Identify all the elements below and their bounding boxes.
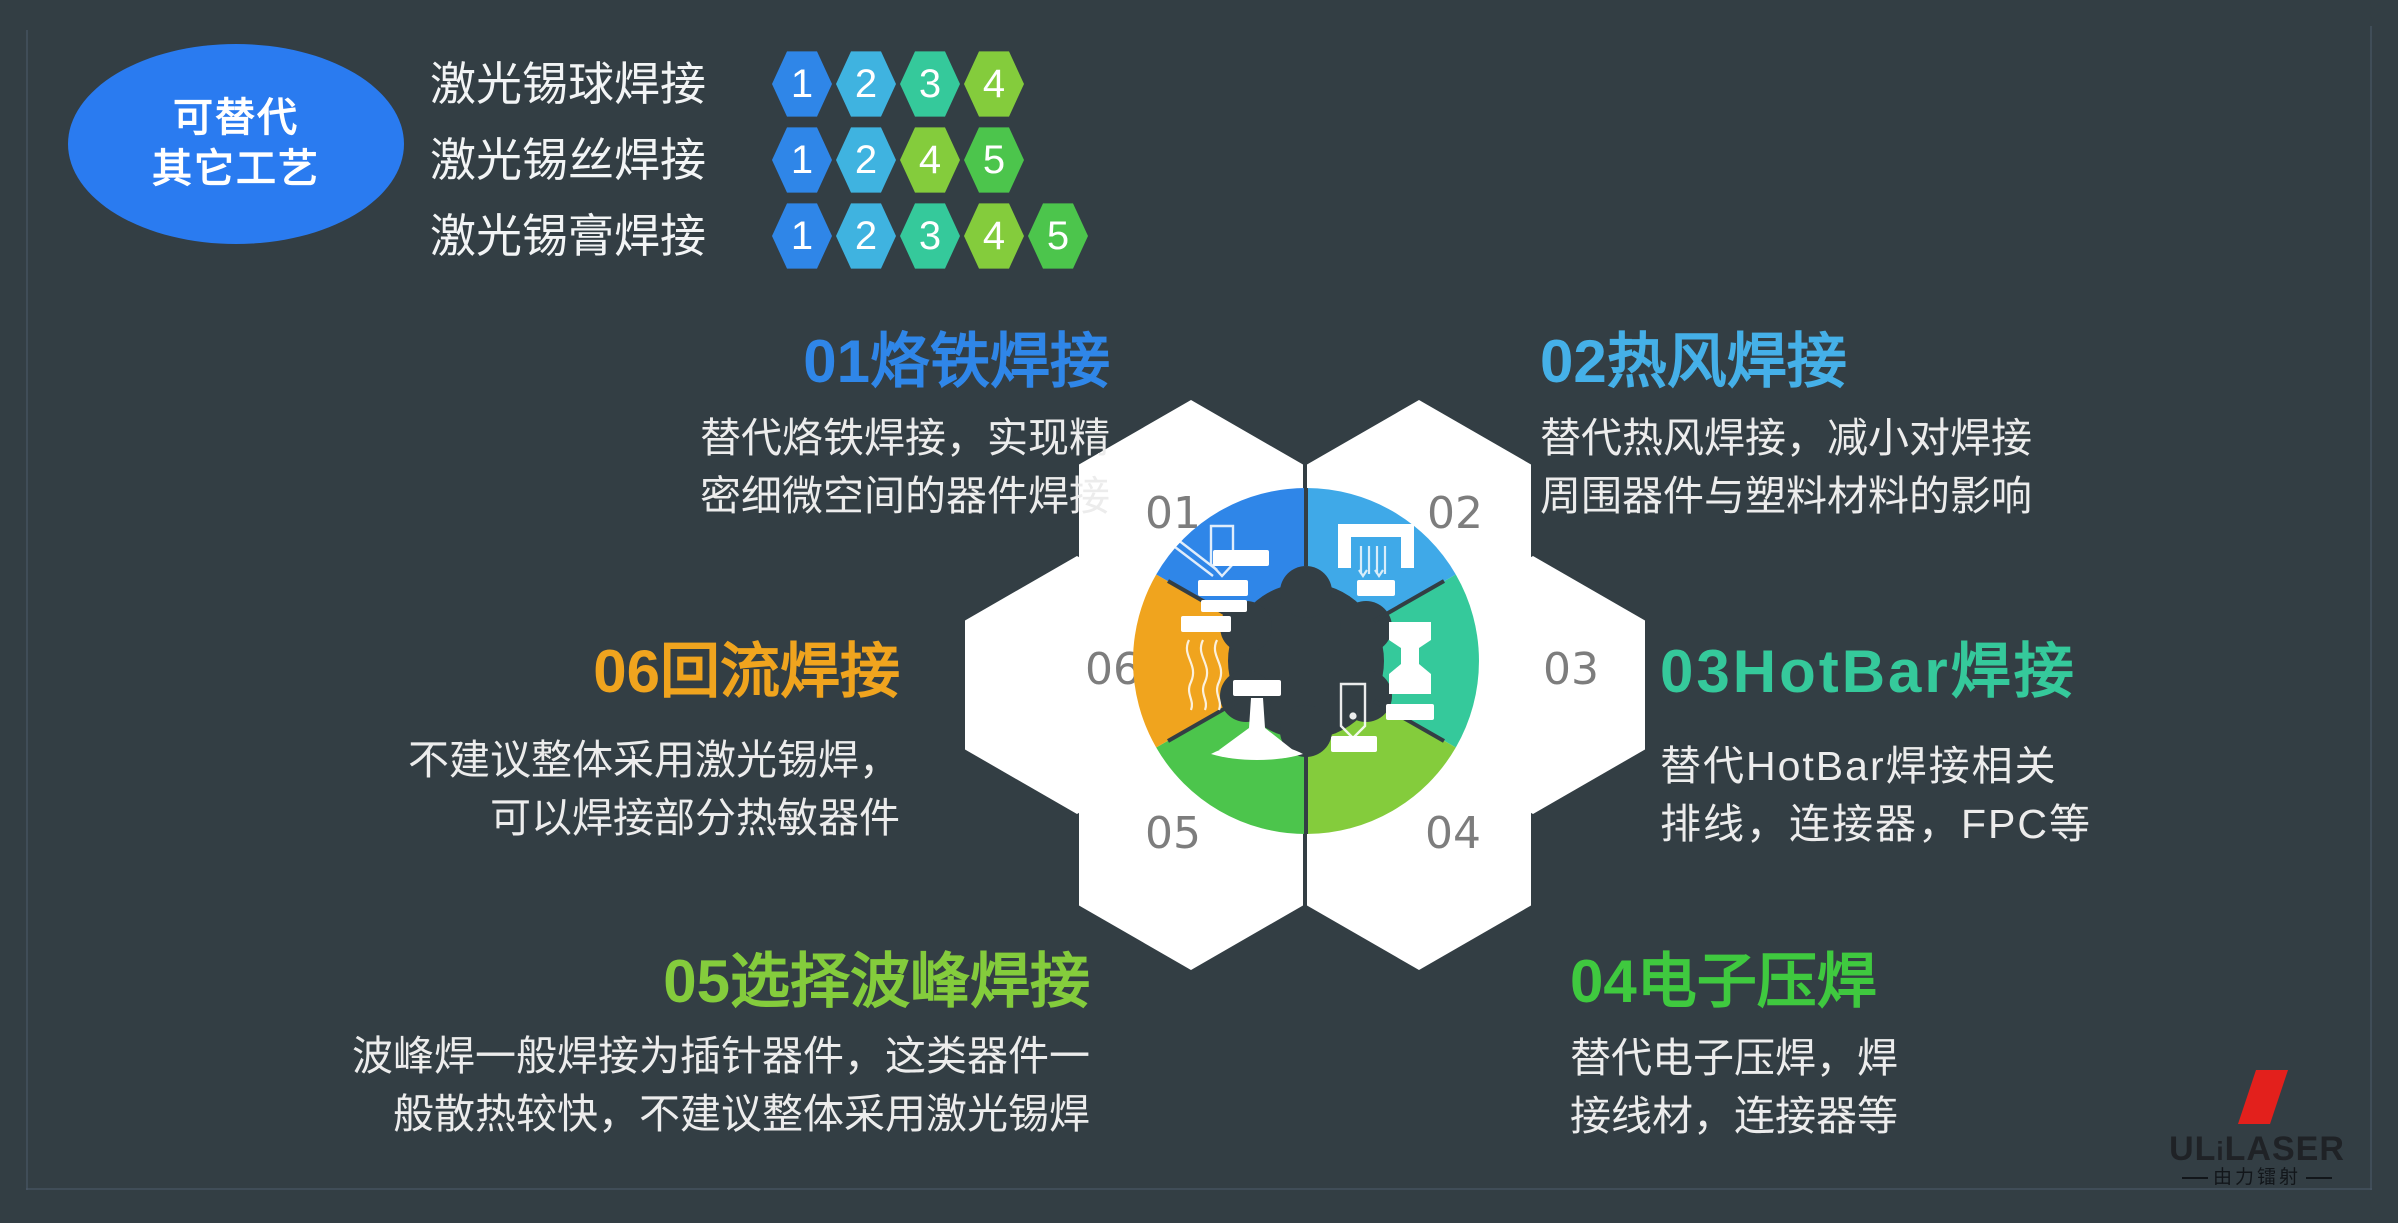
brand-logo: ULiLASER 由力镭射 — [2152, 1072, 2362, 1184]
step-hex: 2 — [836, 202, 896, 270]
step-hex-number: 2 — [855, 216, 877, 256]
step-hex-number: 5 — [983, 140, 1005, 180]
step-hex-number: 5 — [1047, 216, 1069, 256]
section-04-body-line-2: 接线材，连接器等 — [1570, 1087, 2210, 1145]
section-06-heading: 06回流焊接 — [220, 640, 900, 703]
section-03: 03HotBar焊接 替代HotBar焊接相关 排线，连接器，FPC等 — [1660, 640, 2398, 853]
step-hex: 4 — [964, 202, 1024, 270]
process-label: 激光锡膏焊接 — [430, 213, 756, 259]
step-hex: 3 — [900, 50, 960, 118]
step-hex: 1 — [772, 202, 832, 270]
logo-word-b: LASER — [2225, 1130, 2345, 1168]
step-hex: 2 — [836, 126, 896, 194]
hotbar-press-icon — [1386, 622, 1434, 720]
section-01-body-line-1: 替代烙铁焊接，实现精 — [470, 409, 1110, 467]
section-04-heading: 04电子压焊 — [1570, 950, 2210, 1013]
step-hex-group: 1 2 4 5 — [772, 126, 1028, 194]
step-hex: 3 — [900, 202, 960, 270]
section-02-body-line-2: 周围器件与塑料材料的影响 — [1540, 467, 2240, 525]
hex-cell-number: 03 — [1543, 648, 1599, 692]
infographic-canvas: 可替代 其它工艺 激光锡球焊接 1 2 3 4 激光锡丝焊接 1 2 4 5 激… — [0, 0, 2398, 1223]
list-item: 激光锡膏焊接 1 2 3 4 5 — [430, 200, 1092, 272]
step-hex-group: 1 2 3 4 5 — [772, 202, 1092, 270]
logo-word-a: UL — [2169, 1130, 2216, 1168]
step-hex: 4 — [900, 126, 960, 194]
step-hex-number: 2 — [855, 64, 877, 104]
section-05-body-line-2: 般散热较快，不建议整体采用激光锡焊 — [80, 1085, 1090, 1143]
replaceable-badge: 可替代 其它工艺 — [68, 44, 404, 244]
section-04-body: 替代电子压焊，焊 接线材，连接器等 — [1570, 1029, 2210, 1145]
logo-wordmark: ULiLASER — [2152, 1132, 2362, 1166]
step-hex: 5 — [1028, 202, 1088, 270]
section-01: 01烙铁焊接 替代烙铁焊接，实现精 密细微空间的器件焊接 — [470, 330, 1110, 525]
step-hex: 4 — [964, 50, 1024, 118]
section-03-body: 替代HotBar焊接相关 排线，连接器，FPC等 — [1660, 737, 2398, 853]
section-02-body: 替代热风焊接，减小对焊接 周围器件与塑料材料的影响 — [1540, 409, 2240, 525]
logo-subtitle: 由力镭射 — [2152, 1168, 2362, 1187]
step-hex-number: 3 — [919, 64, 941, 104]
step-hex-number: 4 — [983, 216, 1005, 256]
section-01-heading: 01烙铁焊接 — [470, 330, 1110, 393]
list-item: 激光锡球焊接 1 2 3 4 — [430, 48, 1092, 120]
step-hex-number: 4 — [919, 140, 941, 180]
section-05-heading: 05选择波峰焊接 — [80, 950, 1090, 1013]
frame-border-right — [2370, 26, 2372, 1190]
section-04: 04电子压焊 替代电子压焊，焊 接线材，连接器等 — [1570, 950, 2210, 1145]
step-hex-number: 3 — [919, 216, 941, 256]
section-02-heading: 02热风焊接 — [1540, 330, 2240, 393]
step-hex: 2 — [836, 50, 896, 118]
step-hex-number: 1 — [791, 216, 813, 256]
step-hex-number: 1 — [791, 64, 813, 104]
section-02-body-line-1: 替代热风焊接，减小对焊接 — [1540, 409, 2240, 467]
section-01-body: 替代烙铁焊接，实现精 密细微空间的器件焊接 — [470, 409, 1110, 525]
list-item: 激光锡丝焊接 1 2 4 5 — [430, 124, 1092, 196]
reflow-heat-icon — [1181, 616, 1231, 632]
step-hex-number: 4 — [983, 64, 1005, 104]
frame-border-bottom — [26, 1188, 2372, 1190]
step-hex: 1 — [772, 50, 832, 118]
section-04-body-line-1: 替代电子压焊，焊 — [1570, 1029, 2210, 1087]
section-06: 06回流焊接 不建议整体采用激光锡焊， 可以焊接部分热敏器件 — [220, 640, 900, 847]
hexagon-wheel: 01 02 03 04 05 06 — [1075, 400, 1535, 970]
section-05-body-line-1: 波峰焊一般焊接为插针器件，这类器件一 — [80, 1027, 1090, 1085]
process-donut — [1133, 488, 1479, 834]
logo-mark-icon — [2152, 1066, 2362, 1136]
section-03-body-line-2: 排线，连接器，FPC等 — [1660, 795, 2398, 853]
section-01-body-line-2: 密细微空间的器件焊接 — [470, 467, 1110, 525]
process-label: 激光锡丝焊接 — [430, 137, 756, 183]
section-06-body-line-2: 可以焊接部分热敏器件 — [220, 789, 900, 847]
laser-solder-pad-icon — [1198, 580, 1248, 596]
badge-line-1: 可替代 — [173, 93, 299, 144]
step-hex-number: 1 — [791, 140, 813, 180]
logo-subtitle-text: 由力镭射 — [2213, 1167, 2301, 1188]
step-hex: 5 — [964, 126, 1024, 194]
step-hex: 1 — [772, 126, 832, 194]
section-06-body-line-1: 不建议整体采用激光锡焊， — [220, 731, 900, 789]
section-05: 05选择波峰焊接 波峰焊一般焊接为插针器件，这类器件一 般散热较快，不建议整体采… — [80, 950, 1090, 1143]
frame-border-left — [26, 30, 28, 1190]
process-label: 激光锡球焊接 — [430, 61, 756, 107]
replaceable-process-list: 激光锡球焊接 1 2 3 4 激光锡丝焊接 1 2 4 5 激光锡膏焊接 1 2… — [430, 48, 1092, 276]
section-03-body-line-1: 替代HotBar焊接相关 — [1660, 737, 2398, 795]
logo-word-i: i — [2216, 1136, 2224, 1166]
section-02: 02热风焊接 替代热风焊接，减小对焊接 周围器件与塑料材料的影响 — [1540, 330, 2240, 525]
step-hex-number: 2 — [855, 140, 877, 180]
section-03-heading: 03HotBar焊接 — [1660, 640, 2398, 703]
step-hex-group: 1 2 3 4 — [772, 50, 1028, 118]
badge-line-2: 其它工艺 — [152, 144, 320, 195]
section-06-body: 不建议整体采用激光锡焊， 可以焊接部分热敏器件 — [220, 731, 900, 847]
section-05-body: 波峰焊一般焊接为插针器件，这类器件一 般散热较快，不建议整体采用激光锡焊 — [80, 1027, 1090, 1143]
